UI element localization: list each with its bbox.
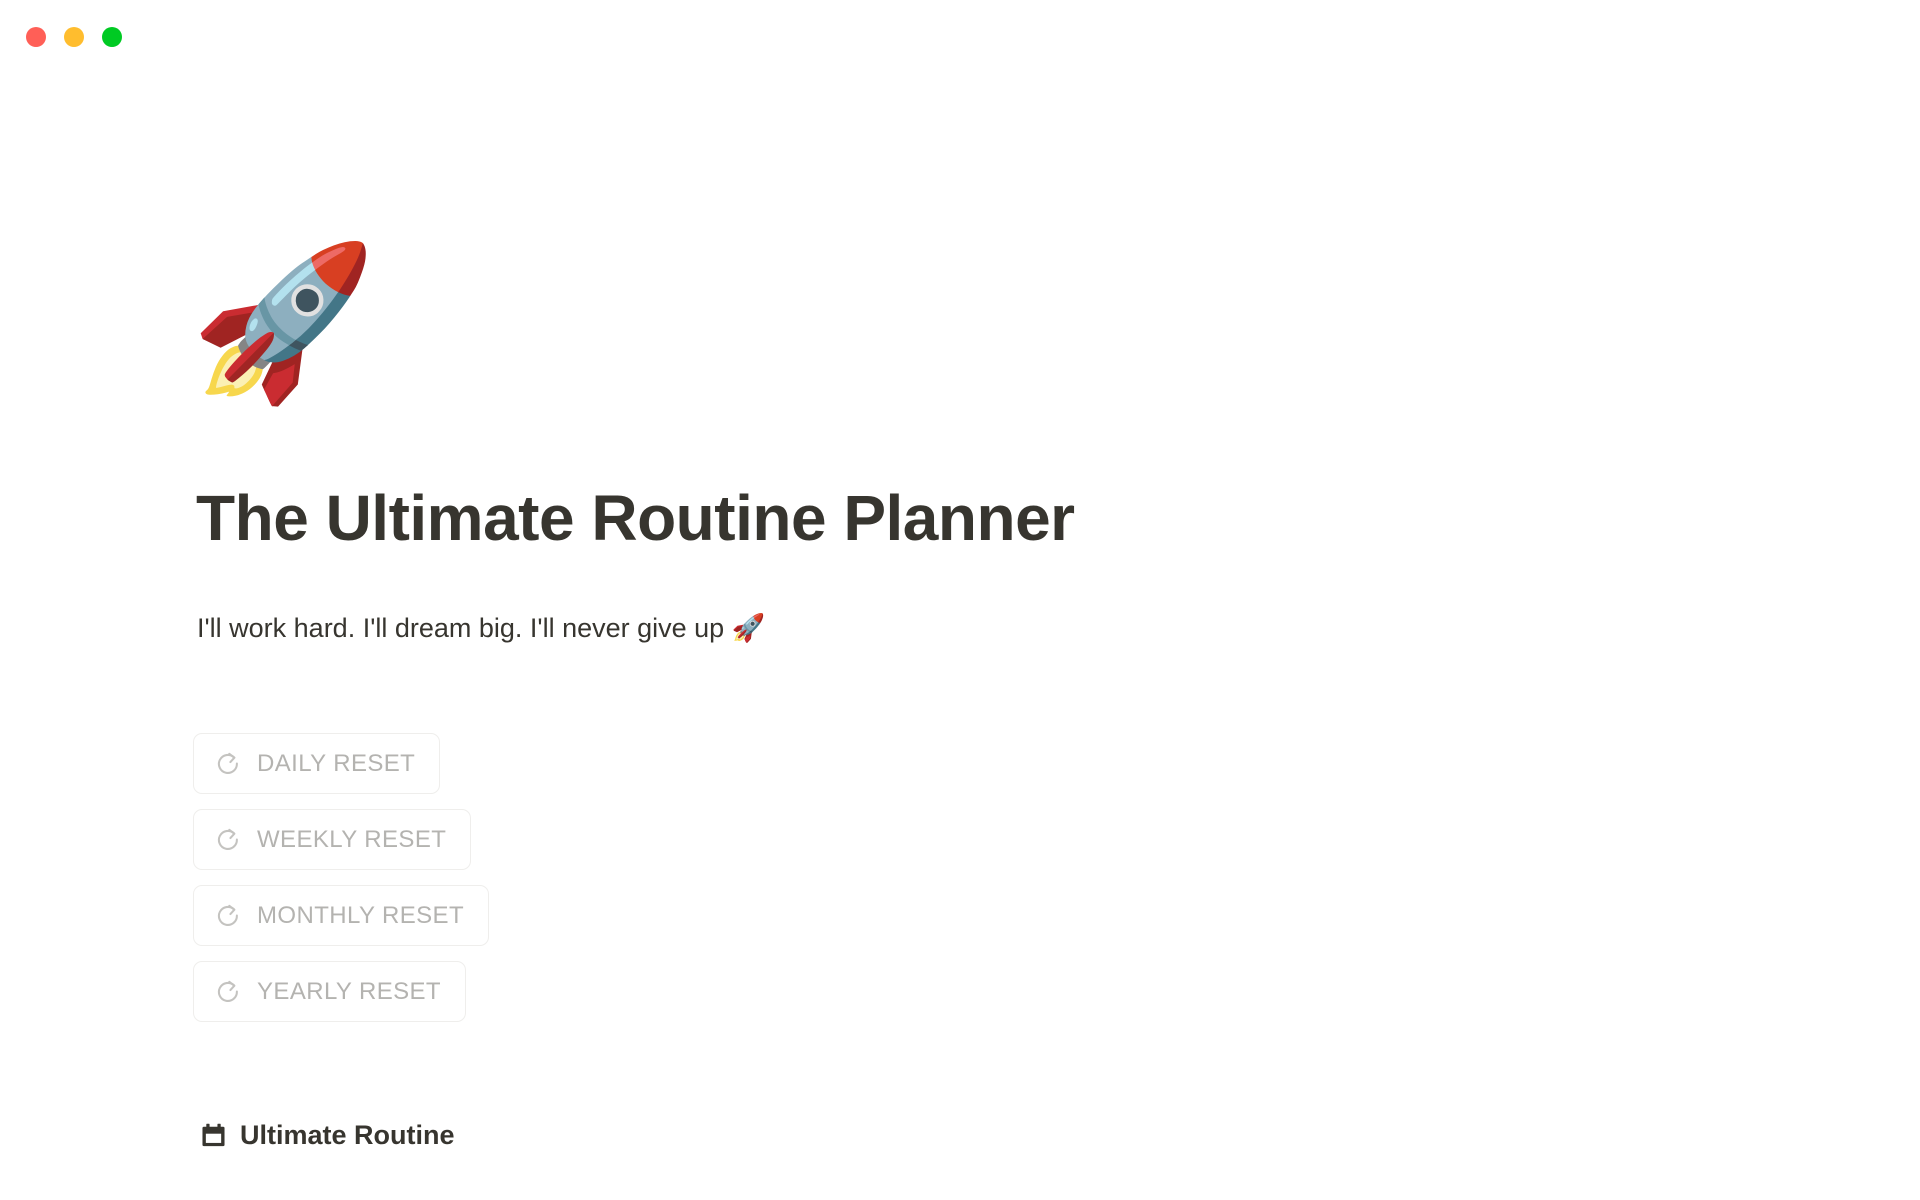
database-link-ultimate-routine[interactable]: Ultimate Routine [200,1122,455,1149]
calendar-icon [200,1122,227,1149]
yearly-reset-button[interactable]: YEARLY RESET [193,961,466,1022]
rocket-emoji[interactable]: 🚀 [190,232,360,417]
page-subtitle[interactable]: I'll work hard. I'll dream big. I'll nev… [197,610,765,648]
daily-reset-label: DAILY RESET [257,750,415,778]
rotate-clockwise-icon [215,827,241,853]
page-content: 🚀 The Ultimate Routine Planner I'll work… [0,0,1920,1200]
weekly-reset-label: WEEKLY RESET [257,826,446,854]
rotate-clockwise-icon [215,903,241,929]
database-link-title: Ultimate Routine [240,1122,455,1149]
monthly-reset-button[interactable]: MONTHLY RESET [193,885,489,946]
rotate-clockwise-icon [215,751,241,777]
daily-reset-button[interactable]: DAILY RESET [193,733,440,794]
reset-button-group: DAILY RESET WEEKLY RESET [193,733,489,1022]
page-title[interactable]: The Ultimate Routine Planner [196,482,1075,556]
monthly-reset-label: MONTHLY RESET [257,902,464,930]
yearly-reset-label: YEARLY RESET [257,978,441,1006]
weekly-reset-button[interactable]: WEEKLY RESET [193,809,471,870]
rotate-clockwise-icon [215,979,241,1005]
app-window: 🚀 The Ultimate Routine Planner I'll work… [0,0,1920,1200]
